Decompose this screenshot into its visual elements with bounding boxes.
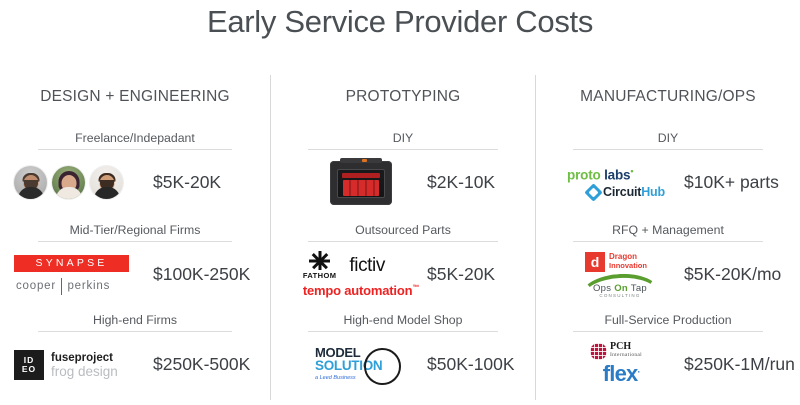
section-body: FATHOM fictiv tempo automation™ $5K-20K (271, 242, 535, 300)
synapse-logo: SYNAPSE (14, 255, 129, 272)
printer-arm-icon (342, 173, 380, 178)
section-title: Full-Service Production (536, 313, 800, 331)
column-header: DESIGN + ENGINEERING (0, 88, 270, 106)
price-label: $2K-10K (427, 172, 495, 193)
section-title: Outsourced Parts (271, 223, 535, 241)
fictiv-logo: fictiv (349, 255, 385, 277)
section-body: proto labs• CircuitHub $10K+ parts (536, 150, 800, 208)
circuit-word: Circuit (603, 185, 641, 199)
fathom-mark-icon (309, 251, 330, 270)
labs-word: labs (604, 167, 630, 182)
section-rfq-management: RFQ + Management d Dragon Innovation (536, 223, 800, 300)
logo-group-rfq: d Dragon Innovation Ops On Tap CONSULTIN… (552, 252, 680, 298)
column-prototyping: PROTOTYPING DIY $2K-10K Outsour (270, 75, 535, 400)
outsourced-logos: FATHOM fictiv tempo automation™ (303, 251, 419, 298)
price-label: $250K-1M/run (684, 354, 795, 375)
design-word: design (78, 364, 118, 379)
diy-mfg-logos: proto labs• CircuitHub (567, 166, 665, 200)
logo-group-midtier: SYNAPSE cooper perkins (14, 255, 149, 295)
section-title: High-end Model Shop (271, 313, 535, 331)
column-header: PROTOTYPING (271, 88, 535, 106)
section-highend-firms: High-end Firms ID EO fuseproject (0, 313, 270, 390)
logo-group-freelancers (14, 166, 149, 199)
price-label: $5K-20K (153, 172, 221, 193)
section-title: DIY (536, 131, 800, 149)
printer-bed-icon (343, 180, 379, 196)
section-full-service-production: Full-Service Production PCH Internationa… (536, 313, 800, 390)
fathom-x-icon (309, 251, 330, 270)
model-solution-logo: MODEL SOLUTION a Leed Business (315, 346, 407, 384)
tempo-wordmark: tempo automation (303, 283, 412, 298)
price-label: $100K-250K (153, 264, 250, 285)
proto-labs-dot-icon: • (630, 166, 633, 176)
avatar (52, 166, 85, 199)
logo-group-printer (301, 161, 421, 205)
pch-international-logo: PCH International (590, 342, 642, 360)
pch-globe-icon (590, 343, 607, 360)
price-label: $5K-20K (427, 264, 495, 285)
ideo-line-2: EO (22, 365, 36, 374)
cooper-perkins-divider (61, 278, 63, 295)
column-design-engineering: DESIGN + ENGINEERING Freelance/Indepadan… (0, 75, 270, 400)
price-label: $10K+ parts (684, 172, 779, 193)
flex-word: flex (603, 361, 638, 386)
avatar-body (18, 187, 44, 199)
price-label: $250K-500K (153, 354, 250, 375)
section-title: Mid-Tier/Regional Firms (0, 223, 270, 241)
model-solution-circle-icon (364, 348, 401, 385)
section-title: DIY (271, 131, 535, 149)
cooper-text: cooper (16, 280, 56, 292)
section-body: SYNAPSE cooper perkins $100K-250K (0, 242, 270, 300)
page-title: Early Service Provider Costs (0, 4, 800, 40)
section-midtier: Mid-Tier/Regional Firms SYNAPSE cooper p… (0, 223, 270, 300)
dragon-innovation-logo: d Dragon Innovation (585, 252, 647, 272)
fuse-frog-group: fuseproject frog design (51, 352, 118, 378)
section-title: RFQ + Management (536, 223, 800, 241)
circuithub-logo: CircuitHub (587, 185, 665, 199)
section-diy-manufacturing: DIY proto labs• CircuitHub (536, 131, 800, 208)
logo-group-outsourced: FATHOM fictiv tempo automation™ (301, 251, 421, 298)
flex-dot-icon: . (638, 365, 640, 375)
fathom-logo: FATHOM (303, 251, 337, 280)
dragon-wordmark: Dragon Innovation (609, 253, 647, 270)
ops-on-tap-subtitle: CONSULTING (577, 293, 663, 298)
section-freelance: Freelance/Indepadant (0, 131, 270, 208)
proto-labs-logo: proto labs• (567, 166, 665, 183)
perkins-text: perkins (67, 280, 110, 292)
printer-top-icon (340, 158, 382, 163)
section-outsourced-parts: Outsourced Parts FATHOM (271, 223, 535, 300)
pch-line-2: International (610, 351, 642, 360)
hub-word: Hub (641, 185, 665, 199)
highend-logo-row: ID EO fuseproject frog design (14, 350, 149, 380)
section-body: d Dragon Innovation Ops On Tap CONSULTIN… (536, 242, 800, 300)
column-header: MANUFACTURING/OPS (536, 88, 800, 106)
proto-word: proto (567, 167, 601, 182)
avatar-body (94, 187, 120, 199)
slide-root: Early Service Provider Costs DESIGN + EN… (0, 0, 800, 405)
cooper-perkins-logo: cooper perkins (14, 278, 149, 295)
section-diy-prototyping: DIY $2K-10K (271, 131, 535, 208)
avatar (14, 166, 47, 199)
ops-on-tap-logo: Ops On Tap CONSULTING (573, 274, 659, 298)
avatar-row (14, 166, 149, 199)
section-title: High-end Firms (0, 313, 270, 331)
avatar (90, 166, 123, 199)
column-manufacturing-ops: MANUFACTURING/OPS DIY proto labs• (535, 75, 800, 400)
flex-logo: flex. (603, 361, 639, 387)
section-highend-model-shop: High-end Model Shop MODEL SOLUTION a Lee… (271, 313, 535, 390)
tempo-trademark: ™ (412, 285, 419, 292)
tempo-automation-logo: tempo automation™ (303, 283, 419, 298)
columns-container: DESIGN + ENGINEERING Freelance/Indepadan… (0, 75, 800, 400)
pch-line-1: PCH (610, 342, 642, 351)
section-body: $5K-20K (0, 150, 270, 208)
outsourced-logo-row: FATHOM fictiv (303, 251, 385, 280)
pch-wordmark: PCH International (610, 342, 642, 360)
price-label: $50K-100K (427, 354, 515, 375)
section-body: MODEL SOLUTION a Leed Business $50K-100K (271, 332, 535, 390)
logo-group-production: PCH International flex. (552, 342, 680, 387)
circuithub-mark-icon (584, 183, 602, 201)
logo-group-modelsolution: MODEL SOLUTION a Leed Business (301, 346, 421, 384)
rfq-logos: d Dragon Innovation Ops On Tap CONSULTIN… (573, 252, 659, 298)
circuithub-wordmark: CircuitHub (603, 185, 665, 199)
desktop-3d-printer-icon (330, 161, 392, 205)
logo-group-diy-mfg: proto labs• CircuitHub (552, 166, 680, 200)
frog-word: frog (51, 364, 74, 379)
logo-group-highend: ID EO fuseproject frog design (14, 350, 149, 380)
frog-design-logo: frog design (51, 365, 118, 378)
section-body: $2K-10K (271, 150, 535, 208)
price-label: $5K-20K/mo (684, 264, 781, 285)
section-body: ID EO fuseproject frog design (0, 332, 270, 390)
ideo-logo: ID EO (14, 350, 44, 380)
fathom-wordmark: FATHOM (303, 271, 337, 280)
section-body: PCH International flex. $250K-1M/run (536, 332, 800, 390)
dragon-mark-icon: d (585, 252, 605, 272)
dragon-line-2: Innovation (609, 262, 647, 271)
section-title: Freelance/Indepadant (0, 131, 270, 149)
production-logos: PCH International flex. (590, 342, 642, 387)
